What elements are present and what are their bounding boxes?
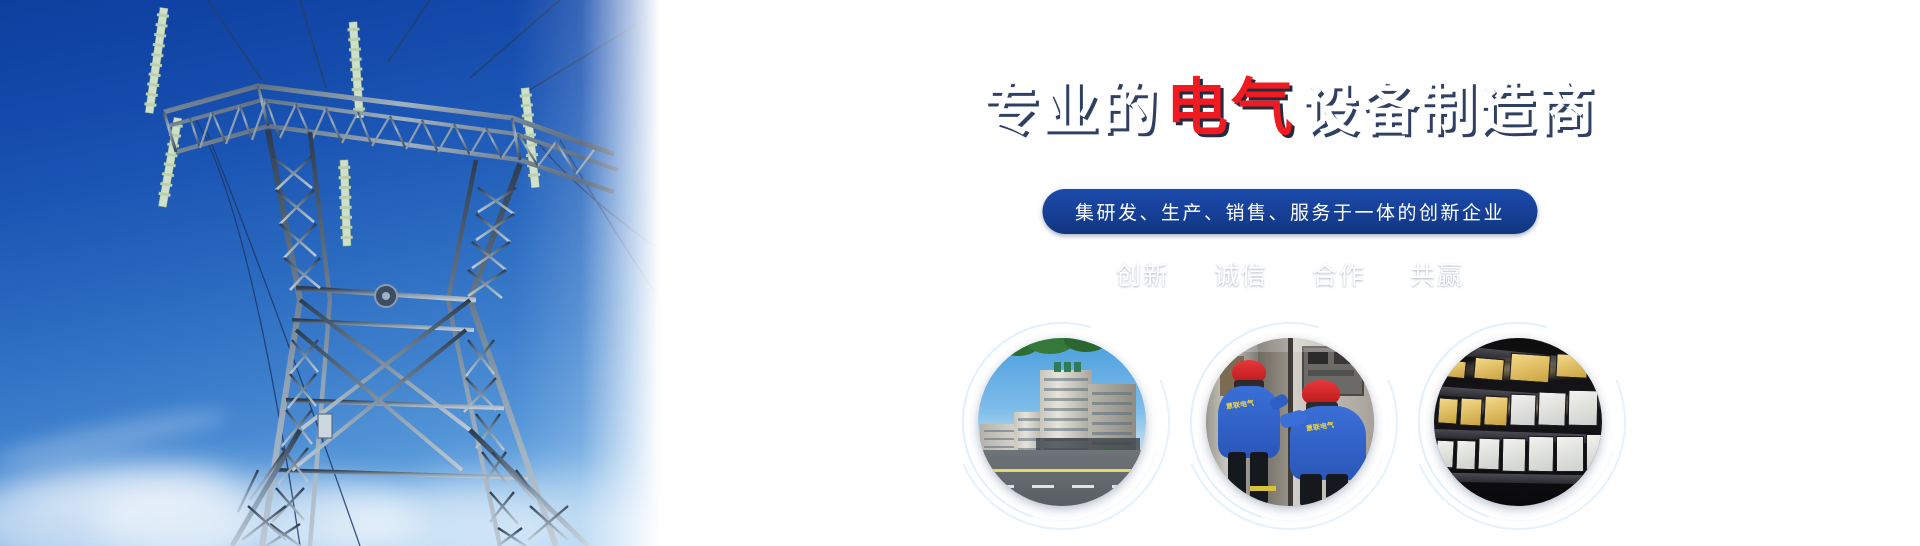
transmission-tower-photo xyxy=(0,0,660,546)
circle-photo-workers: 意联电气 意联电气 xyxy=(1190,322,1390,522)
value-keywords: 创新诚信合作共赢 xyxy=(660,256,1920,292)
circle-photo-certificates xyxy=(1418,322,1618,522)
circle-photo-gallery: 意联电气 意联电气 xyxy=(660,322,1920,522)
value-keyword-2: 诚信 xyxy=(1214,262,1268,290)
banner-content: 专业的电气设备制造商 集研发、生产、销售、服务于一体的创新企业 创新诚信合作共赢 xyxy=(660,0,1920,546)
subtitle-text: 集研发、生产、销售、服务于一体的创新企业 xyxy=(1075,198,1505,225)
office-building-photo xyxy=(978,338,1146,506)
circle-photo-office-building xyxy=(962,322,1162,522)
headline-part-1: 专业的 xyxy=(983,78,1160,141)
headline-highlight: 电气 xyxy=(1160,74,1302,143)
pylon-structure-icon xyxy=(0,0,660,546)
value-keyword-4: 共赢 xyxy=(1410,262,1464,290)
workers-installing-equipment-photo: 意联电气 意联电气 xyxy=(1206,338,1374,506)
value-keyword-1: 创新 xyxy=(1116,262,1170,290)
certificate-display-wall-photo xyxy=(1434,338,1602,506)
headline-part-2: 设备制造商 xyxy=(1302,78,1597,141)
hero-banner: 专业的电气设备制造商 集研发、生产、销售、服务于一体的创新企业 创新诚信合作共赢 xyxy=(0,0,1920,546)
page-title: 专业的电气设备制造商 xyxy=(660,78,1920,140)
value-keyword-3: 合作 xyxy=(1312,262,1366,290)
subtitle-pill: 集研发、生产、销售、服务于一体的创新企业 xyxy=(1043,189,1538,234)
